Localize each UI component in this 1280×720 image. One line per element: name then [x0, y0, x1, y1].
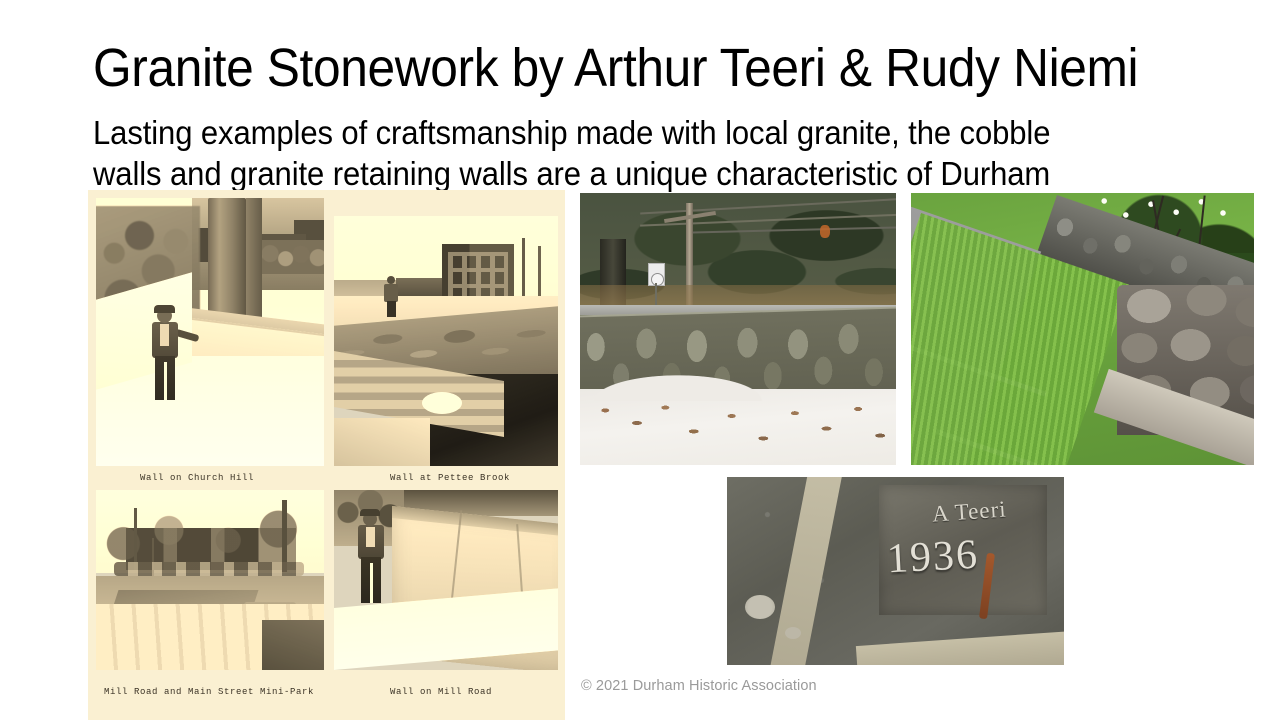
photo-route-4-cobble-wall-winter	[580, 193, 896, 465]
orange-marker-icon	[820, 225, 830, 238]
photo-art	[96, 490, 324, 670]
collage-caption-wall-on-mill-road: Wall on Mill Road	[390, 687, 492, 697]
collage-photo-wall-at-pettee-brook	[334, 216, 558, 466]
photo-roadside-cobble-wall-summer	[911, 193, 1254, 465]
figure-man	[356, 512, 386, 608]
historic-photo-collage: Wall on Church Hill Wall at P	[88, 190, 565, 720]
figure-man	[148, 308, 182, 406]
photo-art	[334, 490, 558, 670]
photo-art	[96, 198, 324, 466]
page-subtitle: Lasting examples of craftsmanship made w…	[93, 112, 1118, 194]
carved-mason-name: A Teeri	[931, 496, 1007, 527]
photo-carved-signature-stone: A Teeri 1936	[727, 477, 1064, 665]
collage-photo-wall-on-church-hill	[96, 198, 324, 466]
copyright-notice: © 2021 Durham Historic Association	[581, 678, 817, 694]
collage-caption-pettee-brook: Wall at Pettee Brook	[390, 473, 510, 483]
collage-photo-wall-on-mill-road	[334, 490, 558, 670]
carved-year: 1936	[886, 531, 980, 584]
collage-photo-mini-park	[96, 490, 324, 670]
page-title: Granite Stonework by Arthur Teeri & Rudy…	[93, 38, 1105, 98]
photo-art	[334, 216, 558, 466]
collage-caption-mini-park: Mill Road and Main Street Mini-Park	[104, 687, 314, 697]
collage-caption-church-hill: Wall on Church Hill	[140, 473, 254, 483]
figure-man	[384, 276, 398, 316]
slide-canvas: Granite Stonework by Arthur Teeri & Rudy…	[0, 0, 1280, 720]
